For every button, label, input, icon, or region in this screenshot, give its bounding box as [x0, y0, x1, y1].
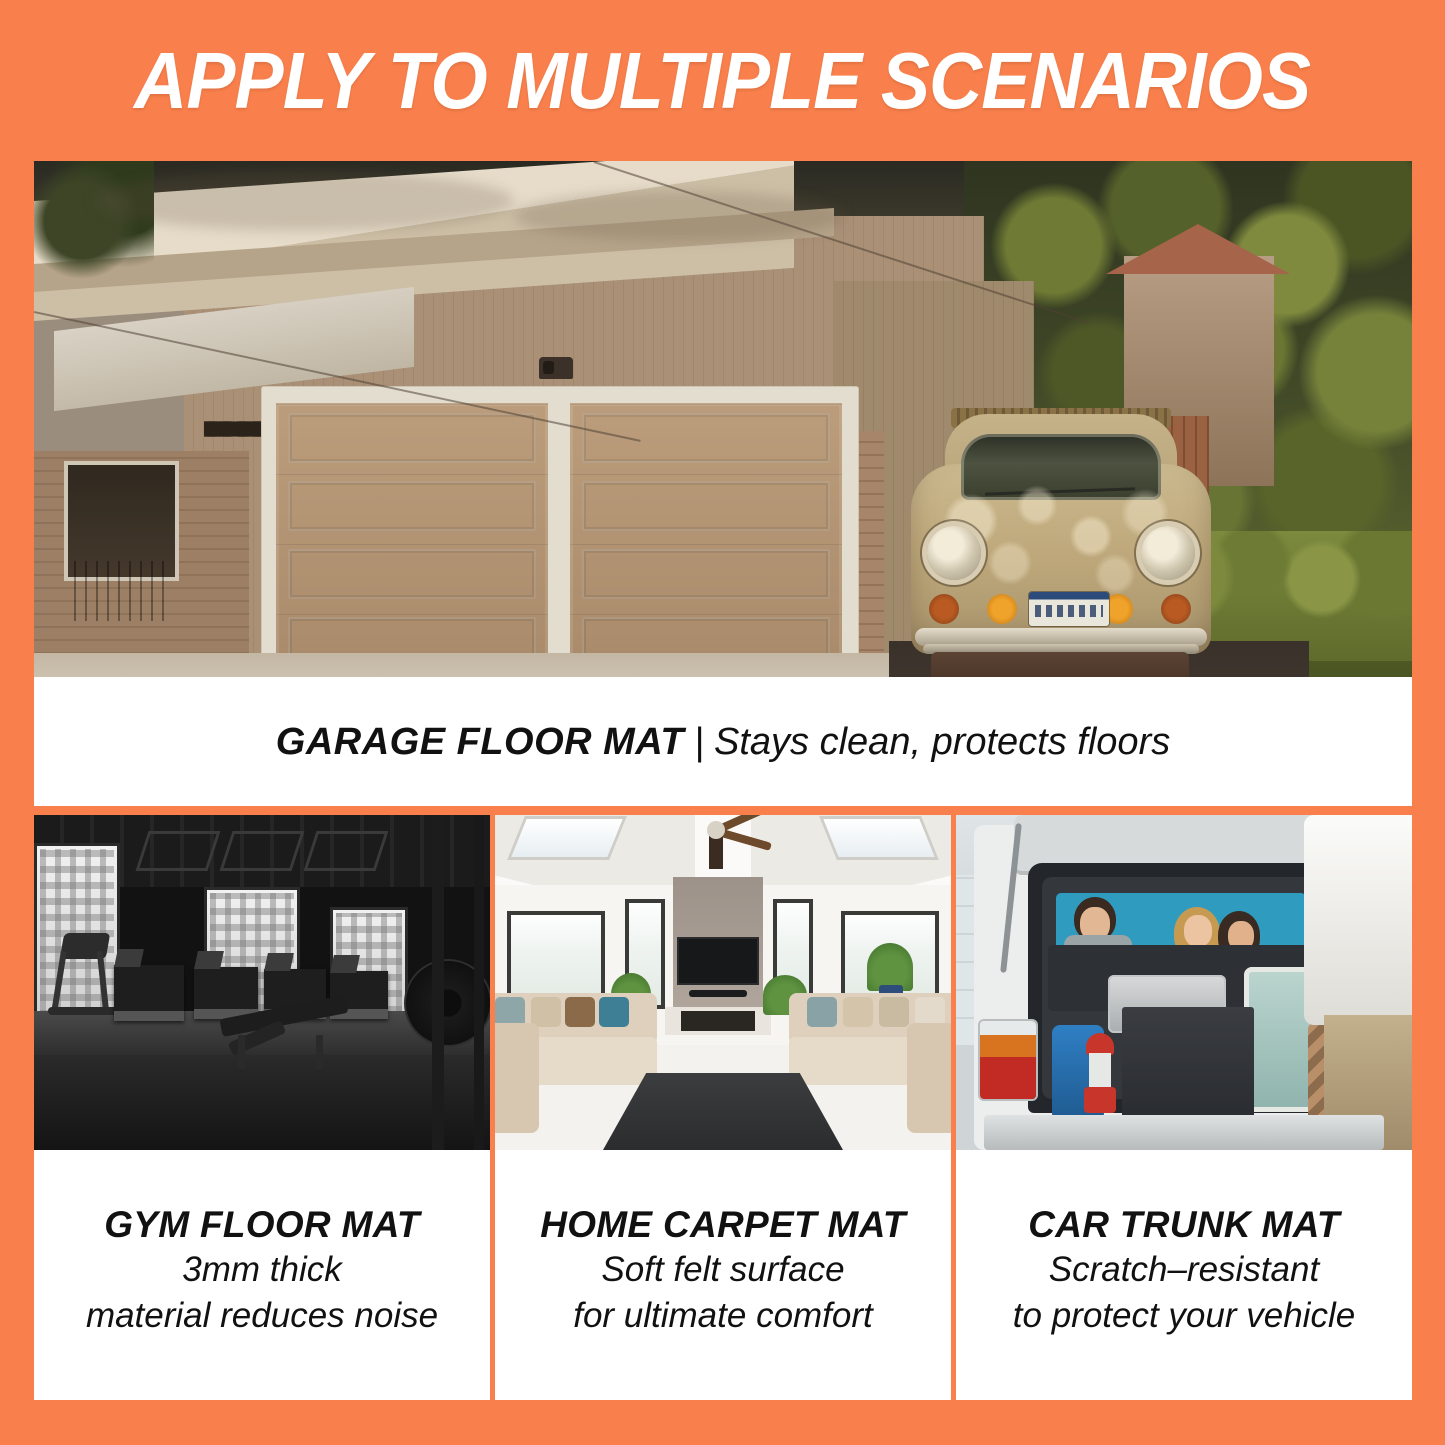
headlight-right: [1141, 526, 1195, 580]
page-title: APPLY TO MULTIPLE SCENARIOS: [134, 41, 1310, 121]
marker-light-b: [1161, 594, 1191, 624]
card-gym-text: GYM FLOOR MAT 3mm thick material reduces…: [34, 1150, 490, 1400]
hero-caption-text: Stays clean, protects floors: [714, 721, 1170, 763]
scenario-card-row: GYM FLOOR MAT 3mm thick material reduces…: [34, 815, 1412, 1400]
marker-light-a: [929, 594, 959, 624]
header-banner: APPLY TO MULTIPLE SCENARIOS: [0, 0, 1445, 161]
woman-face: [1184, 915, 1212, 947]
card-home-title: HOME CARPET MAT: [540, 1202, 906, 1247]
card-trunk-line2: to protect your vehicle: [1013, 1293, 1355, 1339]
card-home-line1: Soft felt surface: [601, 1247, 844, 1293]
suv-trunk-scene: [956, 815, 1412, 1150]
vintage-car: [889, 406, 1234, 677]
left-tree-branches: [34, 161, 154, 281]
card-trunk-title: CAR TRUNK MAT: [1028, 1202, 1340, 1247]
living-room-scene-image: [495, 815, 951, 1150]
window-far-left: [507, 911, 605, 1003]
treadmill-1: [114, 965, 184, 1021]
security-light-icon: [539, 357, 573, 379]
card-trunk-line1: Scratch–resistant: [1049, 1247, 1319, 1293]
gym-interior: [34, 815, 490, 1150]
rear-bumper: [984, 1115, 1384, 1150]
tail-light: [980, 1021, 1036, 1099]
card-gym-floor-mat: GYM FLOOR MAT 3mm thick material reduces…: [34, 815, 490, 1400]
garage-door-frame: [262, 387, 858, 677]
card-gym-line1: 3mm thick: [182, 1247, 341, 1293]
man-shirt: [1304, 815, 1412, 1025]
card-gym-title: GYM FLOOR MAT: [104, 1202, 420, 1247]
skylight-right: [823, 819, 934, 857]
card-trunk-text: CAR TRUNK MAT Scratch–resistant to prote…: [956, 1150, 1412, 1400]
car-lower-shadow: [931, 652, 1189, 677]
license-plate: [1029, 592, 1109, 626]
gym-rubber-mat: [34, 1055, 490, 1150]
garage-door-right: [570, 403, 842, 677]
television: [677, 937, 759, 985]
garage-scene-image: [34, 161, 1412, 677]
soundbar: [689, 990, 747, 997]
power-rack-post-1: [432, 815, 444, 1150]
car-trunk-mat-product: [1122, 1007, 1254, 1127]
infographic-page: APPLY TO MULTIPLE SCENARIOS: [0, 0, 1445, 1445]
firebox: [681, 1011, 755, 1031]
card-car-trunk-mat: CAR TRUNK MAT Scratch–resistant to prote…: [956, 815, 1412, 1400]
hero-caption-title: GARAGE FLOOR MAT: [276, 721, 684, 763]
weight-bench: [220, 1001, 372, 1069]
house-numbers: [204, 416, 266, 442]
gym-scene-image: [34, 815, 490, 1150]
skylight-left: [511, 819, 622, 857]
camping-lantern: [1084, 1033, 1116, 1115]
hero-caption-separator: |: [694, 721, 704, 763]
card-home-text: HOME CARPET MAT Soft felt surface for ul…: [495, 1150, 951, 1400]
card-home-line2: for ultimate comfort: [573, 1293, 873, 1339]
plant-far-right: [867, 943, 913, 991]
card-home-carpet-mat: HOME CARPET MAT Soft felt surface for ul…: [495, 815, 951, 1400]
headlight-left: [927, 526, 981, 580]
patio-furniture: [74, 561, 169, 621]
card-gym-line2: material reduces noise: [86, 1293, 438, 1339]
car-trunk-scene-image: [956, 815, 1412, 1150]
garage-door-left: [276, 403, 548, 677]
hero-panel: GARAGE FLOOR MAT|Stays clean, protects f…: [34, 161, 1412, 806]
power-rack-post-2: [474, 815, 484, 1150]
living-room-interior: [495, 815, 951, 1150]
turn-signal-left: [987, 594, 1017, 624]
hero-caption: GARAGE FLOOR MAT|Stays clean, protects f…: [34, 677, 1412, 806]
hero-caption-line: GARAGE FLOOR MAT|Stays clean, protects f…: [276, 723, 1170, 761]
ceiling-fan: [663, 815, 783, 869]
